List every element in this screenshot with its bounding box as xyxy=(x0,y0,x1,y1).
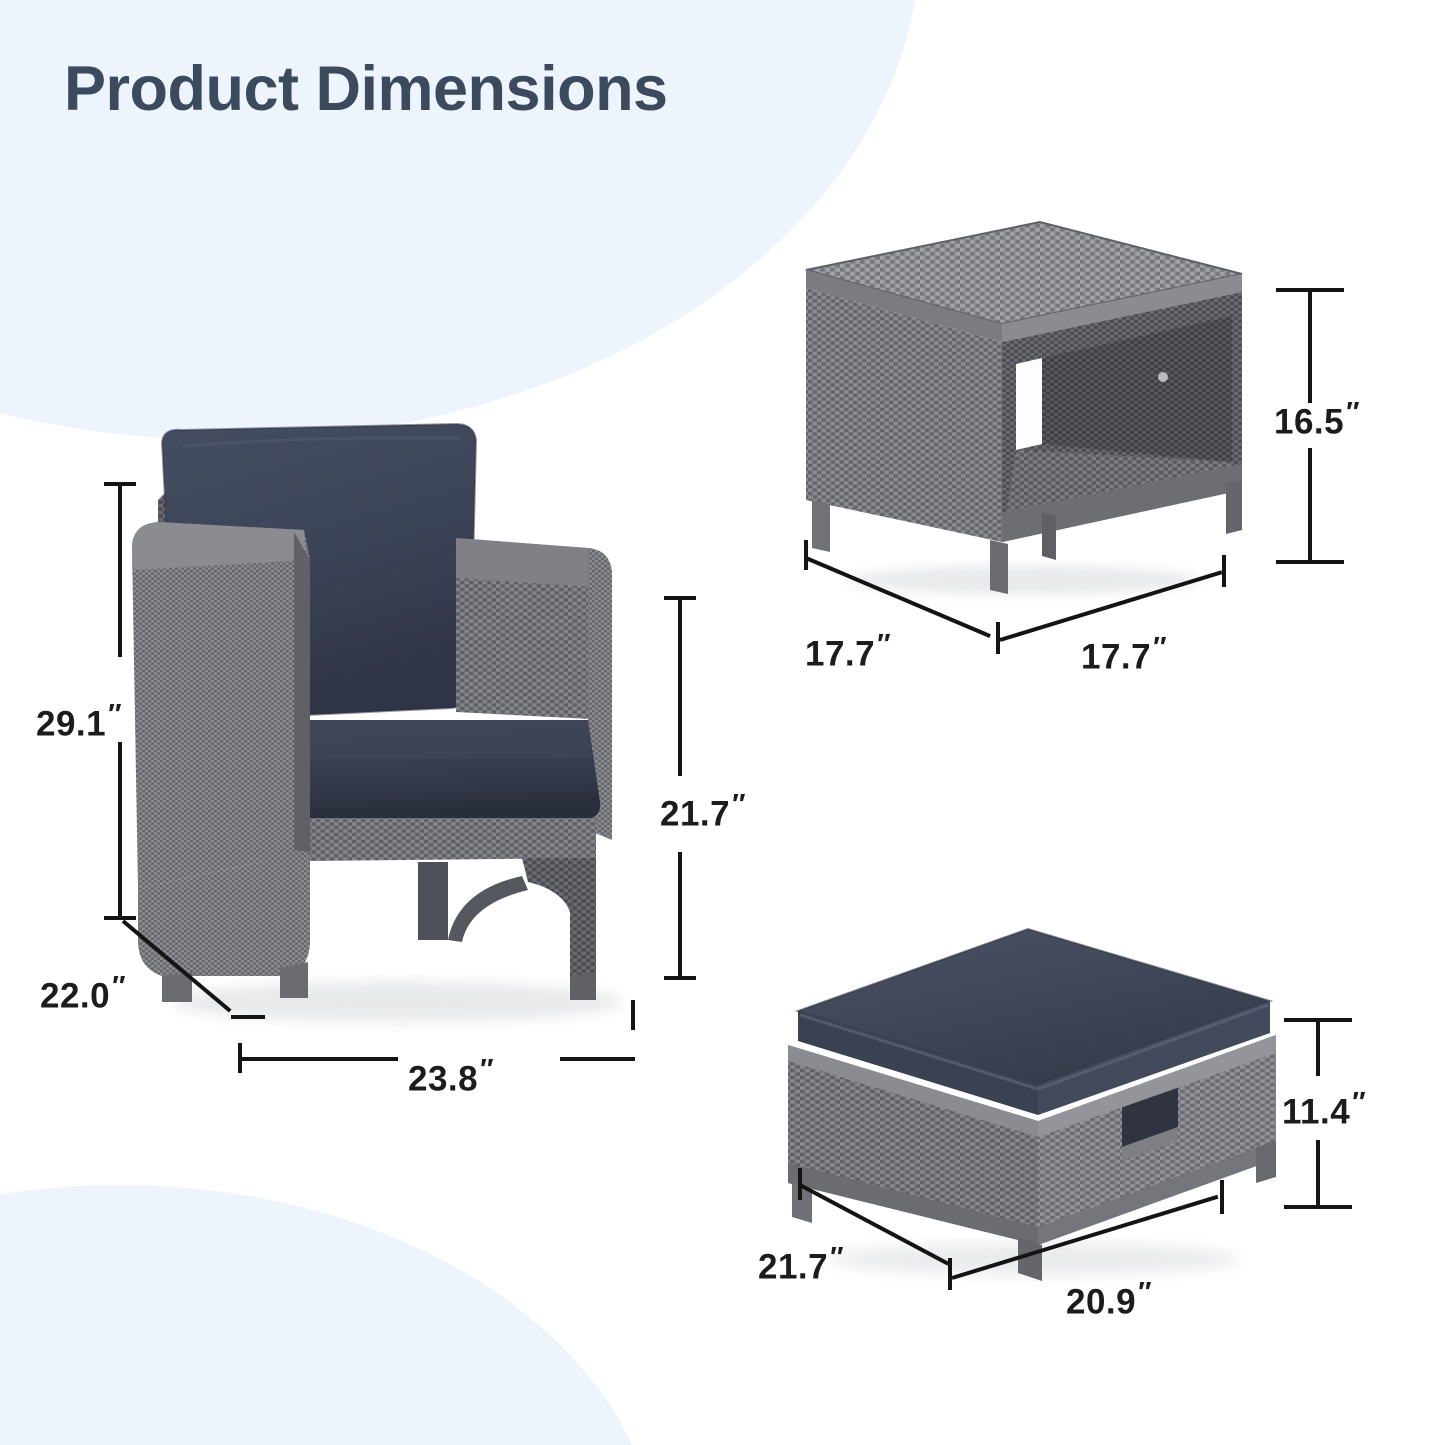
dimension-label-ottoman-width: 20.9″ xyxy=(1066,1278,1151,1320)
ottoman-height-rule-lower xyxy=(1316,1140,1320,1208)
ottoman-height-cap-top xyxy=(1284,1018,1352,1022)
dimension-label-chair-height: 29.1″ xyxy=(36,700,121,742)
dimension-label-table-height: 16.5″ xyxy=(1274,398,1359,440)
unit-symbol: ″ xyxy=(732,788,744,819)
side-table-illustration xyxy=(790,212,1260,612)
unit-symbol: ″ xyxy=(480,1053,492,1084)
unit-symbol: ″ xyxy=(1138,1276,1150,1307)
ottoman-depth-cap-left xyxy=(798,1168,802,1200)
ottoman-height-cap-bottom xyxy=(1284,1205,1352,1209)
dimension-label-chair-arm: 21.7″ xyxy=(660,790,745,832)
dimension-label-table-depth: 17.7″ xyxy=(805,630,890,672)
chair-height-cap-bottom xyxy=(104,916,136,920)
dimension-value: 20.9 xyxy=(1066,1283,1136,1322)
table-height-cap-bottom xyxy=(1276,560,1344,564)
chair-arm-rule-lower xyxy=(678,852,682,980)
table-height-rule-upper xyxy=(1308,288,1312,403)
page-title: Product Dimensions xyxy=(64,58,668,121)
dimension-value: 23.8 xyxy=(408,1060,478,1099)
chair-width-cap-left xyxy=(238,1043,242,1073)
dimension-value: 29.1 xyxy=(36,705,106,744)
dimension-value: 16.5 xyxy=(1274,403,1344,442)
chair-height-rule-lower xyxy=(118,742,122,920)
chair-width-cap-right xyxy=(631,1000,635,1030)
chair-width-rule-left xyxy=(238,1057,398,1061)
chair-illustration xyxy=(118,420,678,1040)
ottoman-width-cap-right xyxy=(1220,1180,1224,1214)
infographic-canvas: Product Dimensions xyxy=(0,0,1445,1445)
ottoman-height-rule-upper xyxy=(1316,1018,1320,1076)
ottoman-illustration xyxy=(770,915,1290,1285)
unit-symbol: ″ xyxy=(108,698,120,729)
dimension-value: 17.7 xyxy=(805,635,875,674)
chair-arm-cap-top xyxy=(664,596,696,600)
dimension-label-ottoman-height: 11.4″ xyxy=(1282,1088,1365,1130)
chair-arm-cap-bottom xyxy=(664,976,696,980)
chair-arm-rule-upper xyxy=(678,596,682,776)
dimension-label-ottoman-depth: 21.7″ xyxy=(758,1243,843,1285)
dimension-label-table-width: 17.7″ xyxy=(1081,633,1166,675)
dimension-value: 21.7 xyxy=(660,795,730,834)
chair-width-rule-right xyxy=(560,1057,635,1061)
ottoman-depth-cap-right xyxy=(948,1258,952,1290)
chair-height-cap-top xyxy=(104,482,136,486)
unit-symbol: ″ xyxy=(1352,1086,1364,1117)
unit-symbol: ″ xyxy=(830,1241,842,1272)
chair-height-rule-upper xyxy=(118,482,122,657)
chair-depth-cap xyxy=(231,1015,265,1019)
dimension-value: 11.4 xyxy=(1282,1093,1350,1132)
unit-symbol: ″ xyxy=(1153,631,1165,662)
table-height-cap-top xyxy=(1276,288,1344,292)
dimension-label-chair-depth: 22.0″ xyxy=(40,972,125,1014)
table-height-rule-lower xyxy=(1308,448,1312,563)
background-blob-bottom-left xyxy=(0,1185,660,1445)
dimension-value: 21.7 xyxy=(758,1248,828,1287)
dimension-label-chair-width: 23.8″ xyxy=(408,1055,493,1097)
unit-symbol: ″ xyxy=(1346,396,1358,427)
table-width-cap-right xyxy=(1222,555,1226,587)
table-depth-cap-left xyxy=(804,540,808,570)
dimension-value: 22.0 xyxy=(40,977,110,1016)
unit-symbol: ″ xyxy=(112,970,124,1001)
unit-symbol: ″ xyxy=(877,628,889,659)
dimension-value: 17.7 xyxy=(1081,638,1151,677)
